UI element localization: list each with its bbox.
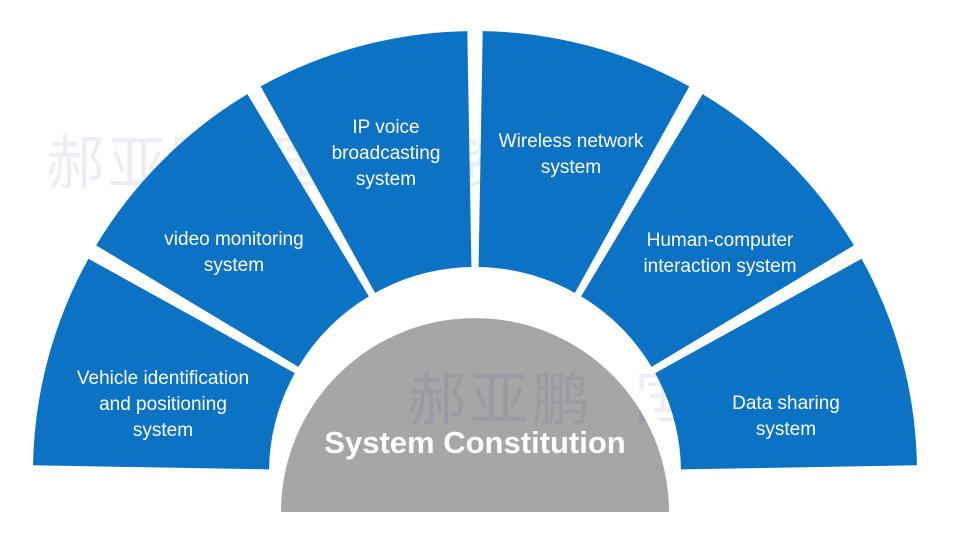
sector-label-line: Wireless network: [499, 131, 644, 152]
diagram-canvas: 郝亚鹏 国铁物资 郝亚鹏 国铁物资 郝亚鹏 国铁物资 System Consti…: [0, 0, 973, 550]
sector-label-line: system: [133, 420, 193, 441]
sector-label-line: Data sharing: [732, 393, 840, 414]
sector-label-line: system: [204, 255, 264, 276]
sector-label-line: video monitoring: [164, 229, 303, 250]
sector-label-line: and positioning: [99, 394, 227, 415]
sector-label-line: Human-computer: [647, 230, 794, 251]
sector-label-line: system: [541, 157, 601, 178]
sector-label-line: interaction system: [643, 256, 796, 277]
sector-label-line: IP voice: [352, 117, 419, 138]
sector-label-line: system: [356, 169, 416, 190]
sector-label-line: Vehicle identification: [77, 368, 249, 389]
sector-label-line: system: [756, 419, 816, 440]
sector-label-line: broadcasting: [332, 143, 441, 164]
hub-title: System Constitution: [324, 425, 625, 460]
system-constitution-sunburst-diagram: 郝亚鹏 国铁物资 郝亚鹏 国铁物资 郝亚鹏 国铁物资 System Consti…: [0, 0, 973, 550]
